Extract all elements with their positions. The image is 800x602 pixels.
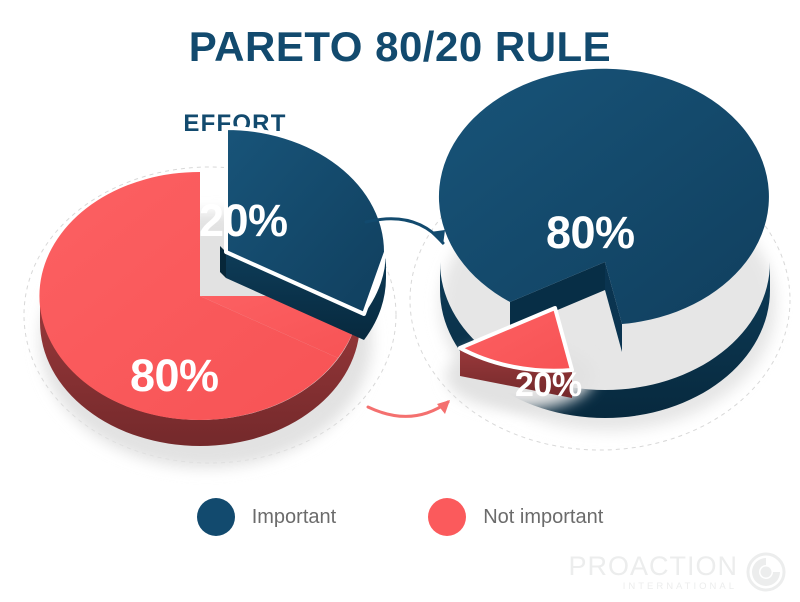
effort-minor-percent: 20% — [199, 198, 288, 243]
chart-effort — [24, 128, 396, 468]
effort-major-top-fill — [200, 296, 360, 358]
legend-item-not-important[interactable]: Not important — [428, 498, 603, 536]
effort-major-percent: 80% — [130, 353, 219, 398]
page-title: PARETO 80/20 RULE — [0, 26, 800, 68]
legend-swatch-not-important-icon — [428, 498, 466, 536]
arrowhead-top-icon — [430, 230, 445, 245]
result-major-percent: 80% — [546, 210, 635, 255]
effort-minor-side-left — [220, 246, 226, 278]
effort-minor-side — [226, 252, 386, 340]
infographic-canvas: PARETO 80/20 RULE EFFORT RESULT — [0, 0, 800, 602]
watermark-proaction-international: PROACTION INTERNATIONAL — [568, 552, 786, 592]
panel-label-effort: EFFORT — [125, 112, 345, 136]
chart-legend: Important Not important — [0, 498, 800, 536]
legend-item-important[interactable]: Important — [197, 498, 336, 536]
guide-ellipse-result — [410, 150, 790, 450]
result-notch-wall-right — [605, 262, 622, 352]
legend-label-important: Important — [252, 507, 336, 527]
result-minor-top — [460, 308, 572, 371]
panel-label-result: RESULT — [470, 112, 690, 136]
arrowhead-bottom-icon — [437, 400, 450, 414]
proaction-logo-icon — [746, 552, 786, 592]
legend-swatch-important-icon — [197, 498, 235, 536]
watermark-brand: PROACTION — [568, 553, 738, 580]
shadow-effort-base — [40, 212, 372, 468]
legend-label-not-important: Not important — [483, 507, 603, 527]
result-notch-wall-left — [510, 262, 605, 330]
flow-arrow-bottom — [368, 400, 450, 416]
result-major-side — [440, 262, 770, 418]
watermark-text: PROACTION INTERNATIONAL — [568, 553, 738, 592]
result-minor-percent: 20% — [515, 368, 582, 402]
flow-arrow-top — [366, 219, 445, 245]
watermark-tagline: INTERNATIONAL — [623, 582, 737, 592]
result-major-top — [439, 69, 769, 324]
